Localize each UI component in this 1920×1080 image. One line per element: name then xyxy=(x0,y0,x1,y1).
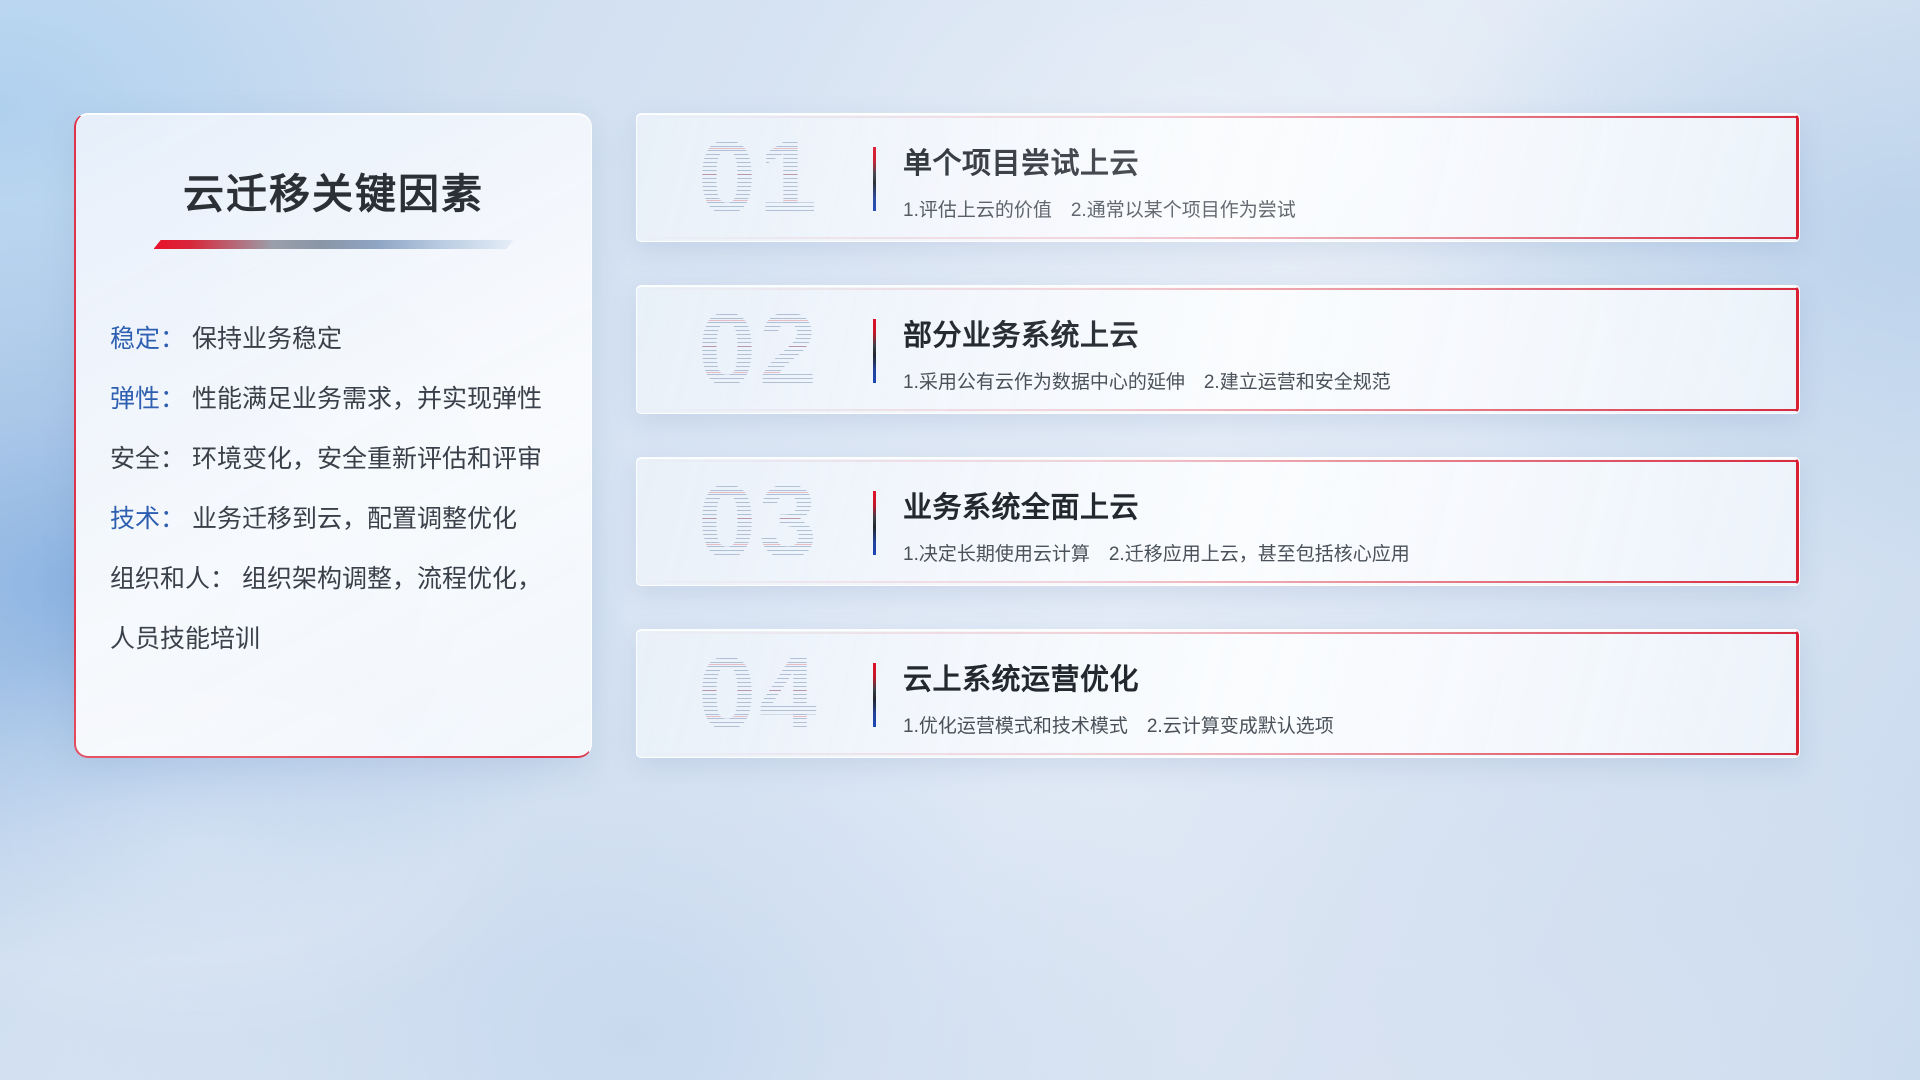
stage-divider-bar xyxy=(873,147,876,211)
factor-key: 弹性： xyxy=(110,385,185,413)
stage-number: 02 xyxy=(659,294,859,406)
factor-value: 保持业务稳定 xyxy=(192,325,342,353)
factor-value: 业务迁移到云，配置调整优化 xyxy=(192,505,517,533)
list-item: 安全： 环境变化，安全重新评估和评审 xyxy=(110,429,591,489)
list-item: 技术： 业务迁移到云，配置调整优化 xyxy=(110,489,591,549)
factor-value: 环境变化，安全重新评估和评审 xyxy=(192,445,542,473)
list-item: 人员技能培训 xyxy=(110,609,591,669)
factor-list: 稳定： 保持业务稳定 弹性： 性能满足业务需求，并实现弹性 安全： 环境变化，安… xyxy=(110,309,591,669)
factor-value: 性能满足业务需求，并实现弹性 xyxy=(192,385,542,413)
factor-value: 组织架构调整，流程优化， xyxy=(242,565,542,593)
stage-heading: 部分业务系统上云 xyxy=(903,312,1771,354)
stage-card-body: 云上系统运营优化 1.优化运营模式和技术模式 2.云计算变成默认选项 xyxy=(903,656,1771,738)
stage-heading: 业务系统全面上云 xyxy=(903,484,1771,526)
list-item: 组织和人： 组织架构调整，流程优化， xyxy=(110,549,591,609)
slide-canvas: 云迁移关键因素 稳定： 保持业务稳定 弹性： 性能满足业务需求，并实现弹性 安全… xyxy=(0,0,1920,1080)
factor-key: 组织和人： xyxy=(110,565,235,593)
stage-subtitle: 1.优化运营模式和技术模式 2.云计算变成默认选项 xyxy=(903,711,1771,738)
stage-heading: 单个项目尝试上云 xyxy=(903,140,1771,182)
factor-key: 技术： xyxy=(110,505,185,533)
stage-subtitle: 1.评估上云的价值 2.通常以某个项目作为尝试 xyxy=(903,195,1771,222)
stage-number: 03 xyxy=(659,466,859,578)
key-factors-panel: 云迁移关键因素 稳定： 保持业务稳定 弹性： 性能满足业务需求，并实现弹性 安全… xyxy=(74,113,592,758)
stage-divider-bar xyxy=(873,319,876,383)
stage-number: 04 xyxy=(659,638,859,750)
stage-divider-bar xyxy=(873,663,876,727)
title-underline-rule xyxy=(154,240,514,249)
factor-value: 人员技能培训 xyxy=(110,625,260,653)
title-underline-gradient-bar xyxy=(154,240,514,249)
factor-key: 安全： xyxy=(110,445,185,473)
stage-heading: 云上系统运营优化 xyxy=(903,656,1771,698)
stage-card-03: 03 03 业务系统全面上云 1.决定长期使用云计算 2.迁移应用上云，甚至包括… xyxy=(636,457,1800,586)
list-item: 弹性： 性能满足业务需求，并实现弹性 xyxy=(110,369,591,429)
stage-card-02: 02 02 部分业务系统上云 1.采用公有云作为数据中心的延伸 2.建立运营和安… xyxy=(636,285,1800,414)
stage-card-01: 01 01 单个项目尝试上云 1.评估上云的价值 2.通常以某个项目作为尝试 xyxy=(636,113,1800,242)
stage-divider-bar xyxy=(873,491,876,555)
stage-card-body: 业务系统全面上云 1.决定长期使用云计算 2.迁移应用上云，甚至包括核心应用 xyxy=(903,484,1771,566)
stage-subtitle: 1.决定长期使用云计算 2.迁移应用上云，甚至包括核心应用 xyxy=(903,539,1771,566)
stage-card-list: 01 01 单个项目尝试上云 1.评估上云的价值 2.通常以某个项目作为尝试 0… xyxy=(636,113,1800,801)
factor-key: 稳定： xyxy=(110,325,185,353)
list-item: 稳定： 保持业务稳定 xyxy=(110,309,591,369)
stage-subtitle: 1.采用公有云作为数据中心的延伸 2.建立运营和安全规范 xyxy=(903,367,1771,394)
stage-card-body: 单个项目尝试上云 1.评估上云的价值 2.通常以某个项目作为尝试 xyxy=(903,140,1771,222)
stage-card-body: 部分业务系统上云 1.采用公有云作为数据中心的延伸 2.建立运营和安全规范 xyxy=(903,312,1771,394)
stage-card-04: 04 04 云上系统运营优化 1.优化运营模式和技术模式 2.云计算变成默认选项 xyxy=(636,629,1800,758)
page-title: 云迁移关键因素 xyxy=(76,160,591,220)
stage-number: 01 xyxy=(659,122,859,234)
